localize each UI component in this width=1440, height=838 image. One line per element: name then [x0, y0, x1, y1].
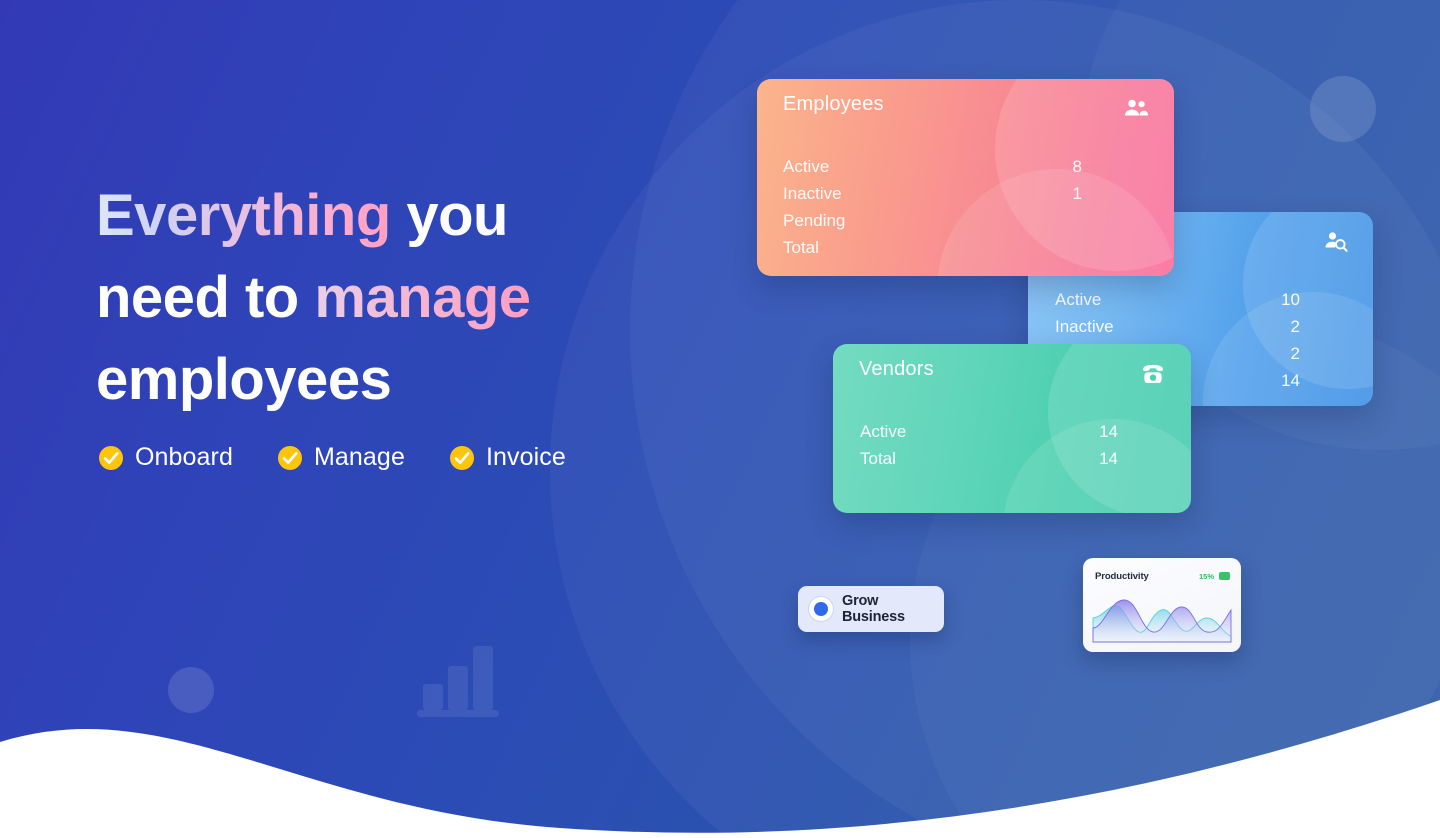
productivity-chart — [1091, 588, 1233, 644]
row-value: 14 — [1272, 367, 1300, 394]
headline-line-1: Everything you — [96, 175, 656, 257]
headline-accent-everything: Everything — [96, 183, 391, 248]
card-row: Inactive 2 — [1055, 313, 1300, 340]
row-value: 2 — [1272, 313, 1300, 340]
feature-item-onboard[interactable]: Onboard — [98, 443, 233, 472]
row-label: Total — [860, 445, 896, 472]
check-circle-icon — [449, 445, 475, 471]
row-value: 8 — [1054, 153, 1082, 180]
productivity-chip-icon — [1219, 572, 1230, 580]
headline-line-2: need to manage — [96, 257, 656, 339]
check-circle-icon — [277, 445, 303, 471]
grow-business-pill[interactable]: Grow Business — [798, 586, 944, 632]
row-label: Active — [783, 153, 829, 180]
row-value — [1054, 207, 1082, 234]
card-title: Employees — [783, 93, 884, 116]
row-value: 2 — [1272, 340, 1300, 367]
headline-accent-manage: manage — [314, 265, 530, 330]
card-row: Total 14 — [860, 445, 1118, 472]
row-label: Total — [783, 234, 819, 261]
row-value — [1054, 234, 1082, 261]
row-label: Pending — [783, 207, 845, 234]
headline-line-3: employees — [96, 339, 656, 421]
card-rows: Active 8 Inactive 1 Pending Total — [783, 153, 1082, 261]
card-row: Total — [783, 234, 1082, 261]
feature-item-manage[interactable]: Manage — [277, 443, 405, 472]
radio-selected-icon — [809, 597, 833, 621]
telephone-icon — [1139, 360, 1167, 388]
stat-card-employees[interactable]: Employees Active 8 Inactive 1 Pending To… — [757, 79, 1174, 276]
headline-block: Everything you need to manage employees — [96, 175, 656, 421]
row-label: Active — [1055, 286, 1101, 313]
card-row: Inactive 1 — [783, 180, 1082, 207]
person-search-icon — [1321, 228, 1349, 256]
row-value: 14 — [1090, 418, 1118, 445]
card-row: Pending — [783, 207, 1082, 234]
feature-list: Onboard Manage Invoice — [98, 443, 566, 472]
productivity-title: Productivity — [1095, 571, 1149, 582]
row-value: 1 — [1054, 180, 1082, 207]
headline-plain-need-to: need to — [96, 265, 314, 330]
bar-chart-icon — [414, 640, 502, 718]
row-value: 14 — [1090, 445, 1118, 472]
card-row: Active 10 — [1055, 286, 1300, 313]
card-row: Active 8 — [783, 153, 1082, 180]
row-value: 10 — [1272, 286, 1300, 313]
feature-label: Manage — [314, 443, 405, 472]
people-group-icon — [1122, 95, 1150, 123]
feature-item-invoice[interactable]: Invoice — [449, 443, 566, 472]
feature-label: Onboard — [135, 443, 233, 472]
bg-circle-top-right — [1310, 76, 1376, 142]
card-title: Vendors — [859, 358, 934, 381]
grow-business-label: Grow Business — [842, 593, 944, 625]
check-circle-icon — [98, 445, 124, 471]
stat-card-vendors[interactable]: Vendors Active 14 Total 14 — [833, 344, 1191, 513]
productivity-card[interactable]: Productivity 15% — [1083, 558, 1241, 652]
row-label: Active — [860, 418, 906, 445]
bg-circle-bottom-left — [168, 667, 214, 713]
row-label: Inactive — [783, 180, 842, 207]
card-row: Active 14 — [860, 418, 1118, 445]
hero-section: Everything you need to manage employees … — [0, 0, 1440, 838]
row-label: Inactive — [1055, 313, 1114, 340]
feature-label: Invoice — [486, 443, 566, 472]
productivity-percent: 15% — [1199, 572, 1214, 581]
card-rows: Active 14 Total 14 — [860, 418, 1118, 472]
headline-rest-you: you — [391, 183, 508, 248]
